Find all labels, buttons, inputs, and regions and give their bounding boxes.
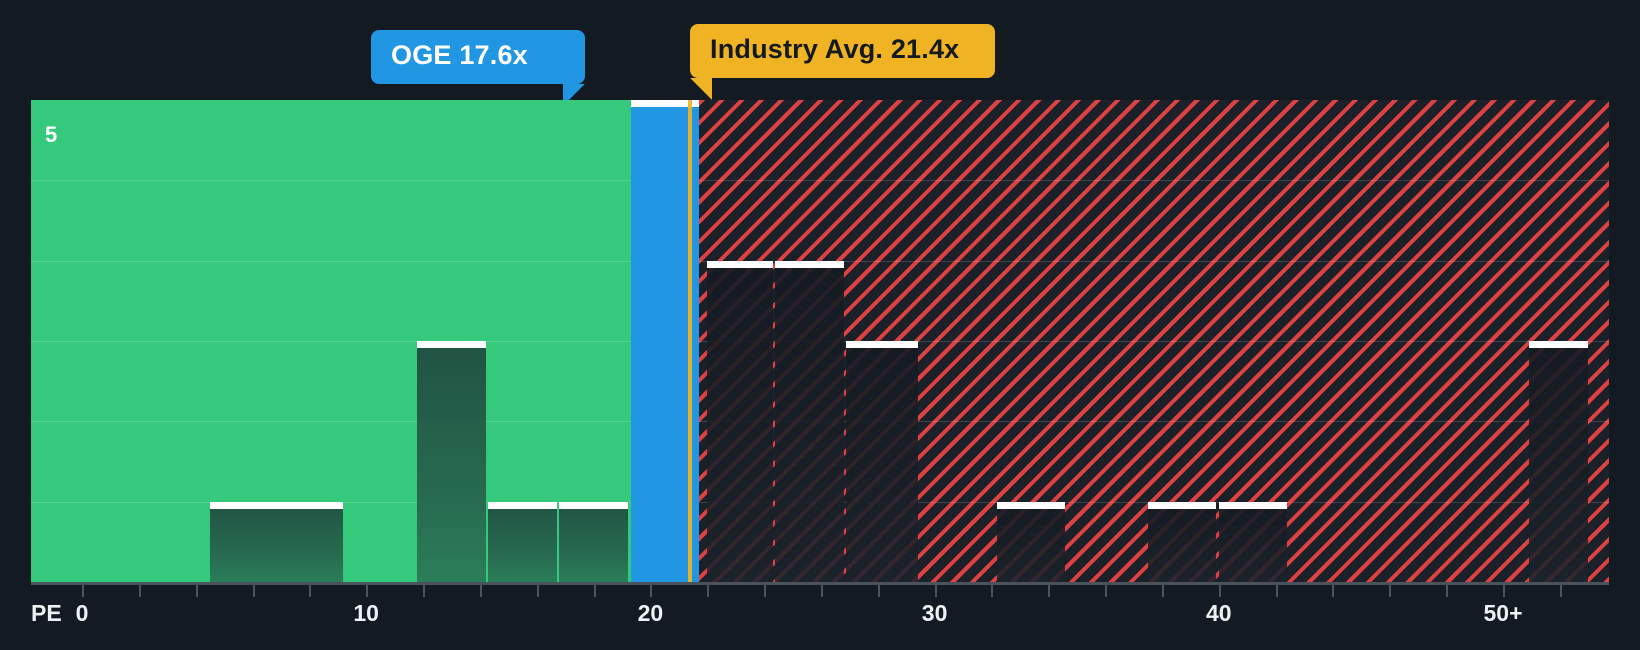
bar-fill	[272, 502, 343, 582]
industry-avg-callout-tail	[690, 78, 712, 100]
x-tick	[366, 585, 368, 597]
x-tick	[537, 585, 539, 597]
x-tick	[1560, 585, 1562, 597]
bar-cap	[846, 341, 917, 348]
bar-cap	[559, 502, 627, 509]
bar-cap	[272, 502, 343, 509]
bar[interactable]	[1219, 502, 1287, 582]
industry-avg-callout-label: Industry Avg. 21.4x	[710, 34, 959, 64]
x-tick	[878, 585, 880, 597]
oge-callout-label: OGE 17.6x	[391, 40, 528, 70]
bar-fill	[775, 261, 843, 582]
x-axis-label-30: 30	[922, 600, 948, 627]
x-tick	[1503, 585, 1505, 597]
bar-cap	[1148, 502, 1216, 509]
x-tick	[253, 585, 255, 597]
bar-fill	[417, 341, 485, 582]
bar-cap	[488, 502, 556, 509]
bar-fill	[997, 502, 1065, 582]
bar[interactable]	[707, 261, 772, 582]
bar-fill	[559, 502, 627, 582]
x-tick	[1332, 585, 1334, 597]
bar-fill	[846, 341, 917, 582]
bar-cap	[997, 502, 1065, 509]
x-tick	[1446, 585, 1448, 597]
x-tick	[764, 585, 766, 597]
x-tick	[309, 585, 311, 597]
x-tick	[423, 585, 425, 597]
bar[interactable]	[1529, 341, 1589, 582]
bar[interactable]	[846, 341, 917, 582]
x-tick	[480, 585, 482, 597]
x-tick	[1389, 585, 1391, 597]
bar-fill	[210, 502, 273, 582]
industry-avg-marker-line	[688, 100, 692, 582]
x-tick	[821, 585, 823, 597]
x-tick	[1162, 585, 1164, 597]
bar[interactable]	[210, 502, 273, 582]
bar[interactable]	[417, 341, 485, 582]
plot-area: 5 No. of Companies	[31, 100, 1609, 582]
x-axis-label-0: 0	[76, 600, 89, 627]
bar-fill	[1219, 502, 1287, 582]
bar[interactable]	[997, 502, 1065, 582]
pe-distribution-chart: OGE 17.6x Industry Avg. 21.4x 5 No. of C…	[0, 0, 1640, 650]
y-gridline-label-5: 5	[45, 122, 57, 148]
bar[interactable]	[272, 502, 343, 582]
x-tick	[196, 585, 198, 597]
bar-fill	[707, 261, 772, 582]
x-axis-label-40: 40	[1206, 600, 1232, 627]
x-axis-label-10: 10	[353, 600, 379, 627]
industry-avg-callout[interactable]: Industry Avg. 21.4x	[690, 24, 995, 78]
bar-cap	[1219, 502, 1287, 509]
x-tick	[935, 585, 937, 597]
bar-cap	[775, 261, 843, 268]
x-tick	[1048, 585, 1050, 597]
bar[interactable]	[488, 502, 556, 582]
oge-callout[interactable]: OGE 17.6x	[371, 30, 585, 84]
x-tick	[707, 585, 709, 597]
bar[interactable]	[559, 502, 627, 582]
x-tick	[1276, 585, 1278, 597]
bar-fill	[1529, 341, 1589, 582]
bar-cap	[1529, 341, 1589, 348]
bar-fill	[488, 502, 556, 582]
bar-cap	[707, 261, 772, 268]
bar[interactable]	[1148, 502, 1216, 582]
bar[interactable]	[775, 261, 843, 582]
x-tick	[650, 585, 652, 597]
bar-cap	[417, 341, 485, 348]
x-axis-prefix-label: PE	[31, 600, 62, 627]
bar-cap	[210, 502, 273, 509]
x-tick	[82, 585, 84, 597]
x-tick	[139, 585, 141, 597]
x-axis-label-20: 20	[638, 600, 664, 627]
bar-fill	[1148, 502, 1216, 582]
x-tick	[1219, 585, 1221, 597]
x-tick	[594, 585, 596, 597]
x-axis-label-50plus: 50+	[1483, 600, 1522, 627]
x-tick	[1105, 585, 1107, 597]
x-tick	[991, 585, 993, 597]
